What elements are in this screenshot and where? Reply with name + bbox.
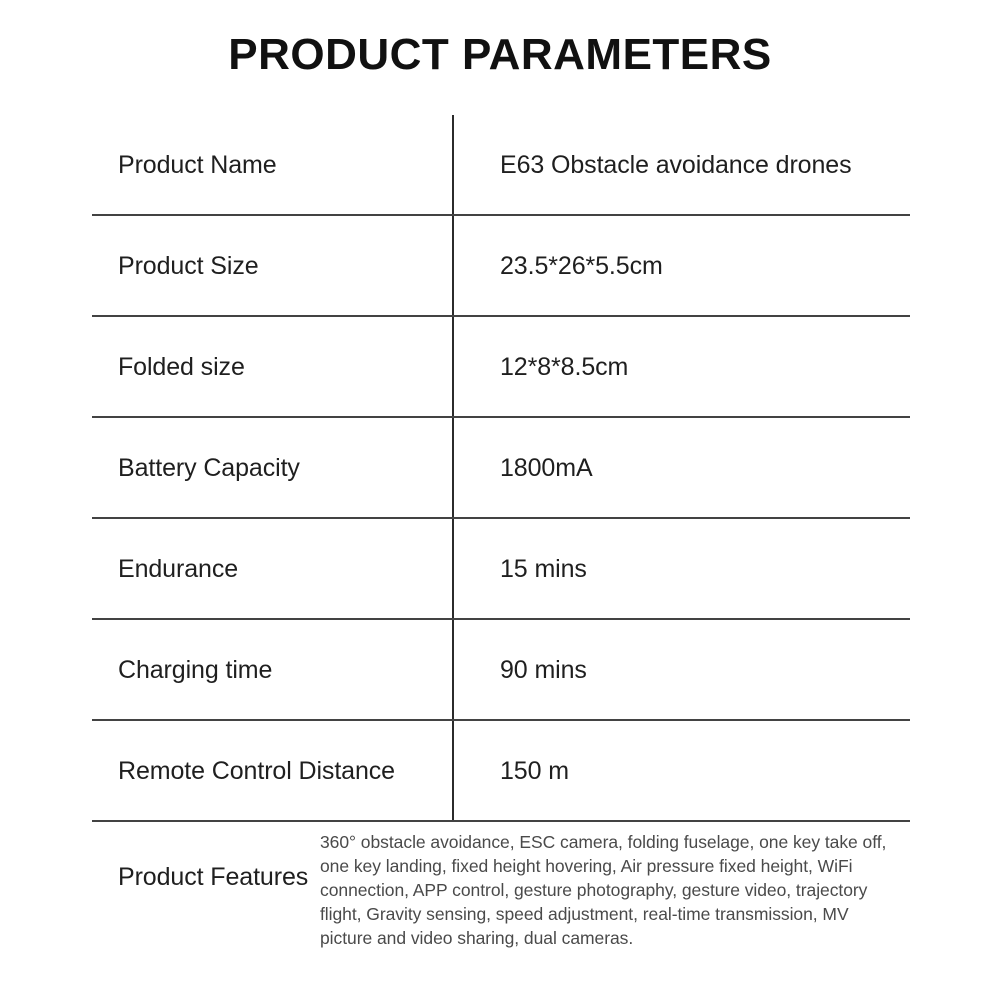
spec-value: E63 Obstacle avoidance drones (500, 115, 852, 216)
table-row: Endurance 15 mins (92, 519, 910, 620)
spec-label: Folded size (118, 317, 245, 418)
spec-value: 12*8*8.5cm (500, 317, 628, 418)
spec-label: Battery Capacity (118, 418, 300, 519)
table-row: Product Name E63 Obstacle avoidance dron… (92, 115, 910, 216)
table-row: Folded size 12*8*8.5cm (92, 317, 910, 418)
spec-label: Product Size (118, 216, 259, 317)
spec-label: Endurance (118, 519, 238, 620)
table-row: Product Size 23.5*26*5.5cm (92, 216, 910, 317)
table-row: Charging time 90 mins (92, 620, 910, 721)
spec-value: 90 mins (500, 620, 587, 721)
table-row: Battery Capacity 1800mA (92, 418, 910, 519)
spec-label: Charging time (118, 620, 272, 721)
spec-value: 150 m (500, 721, 569, 822)
spec-value: 23.5*26*5.5cm (500, 216, 663, 317)
specification-table: Product Name E63 Obstacle avoidance dron… (92, 115, 910, 982)
page-title: PRODUCT PARAMETERS (0, 30, 1000, 80)
spec-label: Remote Control Distance (118, 721, 395, 822)
spec-value: 1800mA (500, 418, 593, 519)
spec-value-features: 360° obstacle avoidance, ESC camera, fol… (320, 830, 900, 950)
spec-value: 15 mins (500, 519, 587, 620)
table-row: Remote Control Distance 150 m (92, 721, 910, 822)
product-parameters-page: PRODUCT PARAMETERS Product Name E63 Obst… (0, 0, 1000, 1000)
spec-label: Product Name (118, 115, 277, 216)
table-row-features: Product Features 360° obstacle avoidance… (92, 822, 910, 982)
